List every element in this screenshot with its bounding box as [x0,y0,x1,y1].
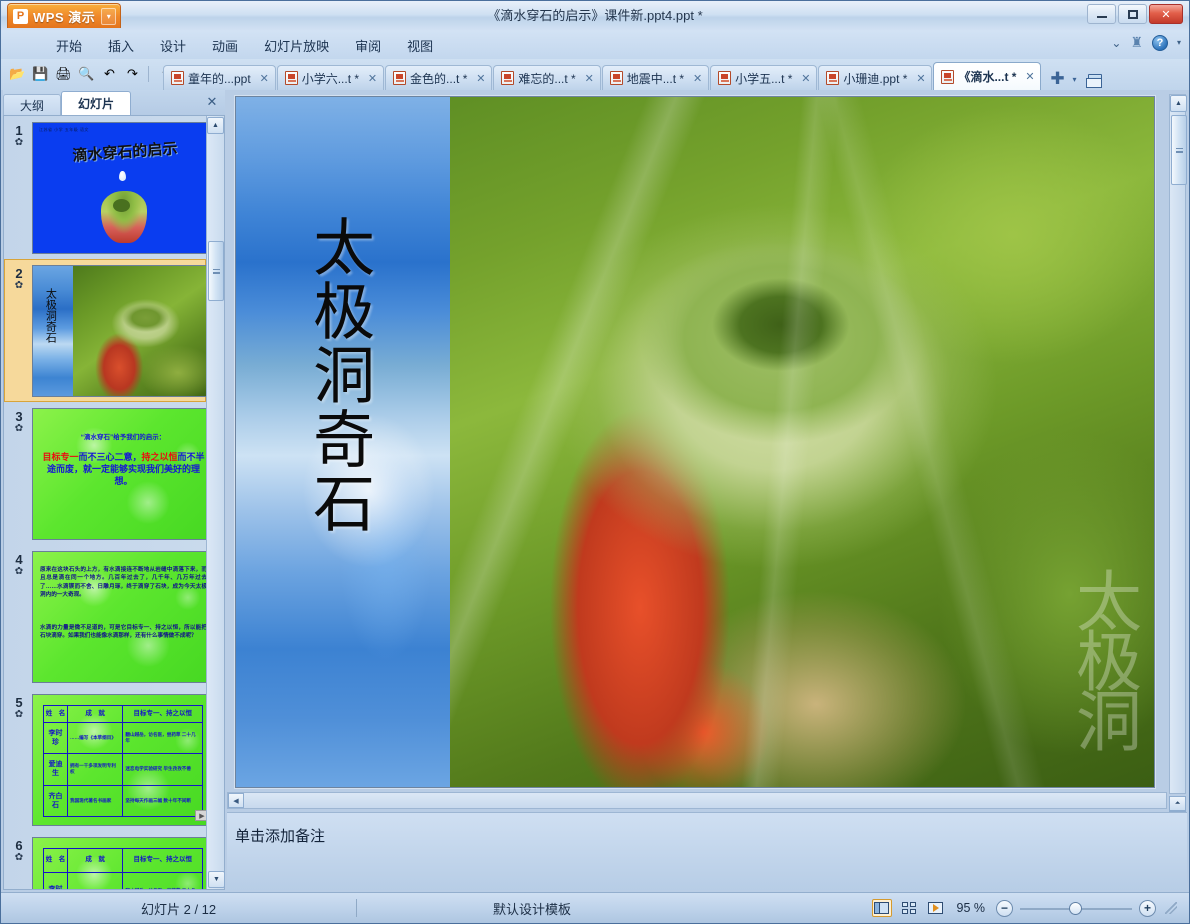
slide-thumbnail-scroll-area[interactable]: 1 ✿ 江苏省 小学 五年级 语文 滴水穿石的启示 2 [4,116,206,889]
menu-bar-right-tools: ⌄ ♜ ? ▾ [1111,34,1181,51]
slide-number: 1 [6,124,32,137]
slide-thumb-canvas: 原来在这块石头的上方，有水滴接连不断地从岩缝中滴落下来，而且总是滴在同一个地方。… [32,551,206,683]
slide-thumbnail-6[interactable]: 6 ✿ 姓 名 成 就 目标专一、持之以恒 [4,831,206,889]
doc-tab-0[interactable]: 童年的...ppt ✕ [163,65,276,90]
doc-tab-label: 小学六...t * [302,70,359,87]
menu-item-slideshow[interactable]: 幻灯片放映 [251,32,342,59]
scrollbar-grip-icon [213,269,220,274]
slide-vertical-title[interactable]: 太极洞奇石 [302,215,375,535]
stage-scrollbar-thumb[interactable] [1171,115,1187,185]
doc-tab-5[interactable]: 小学五...t * ✕ [710,65,817,90]
zoom-in-button[interactable]: + [1139,900,1156,917]
zoom-out-button[interactable]: − [996,900,1013,917]
doc-tab-close-icon[interactable]: ✕ [474,72,487,85]
slide-number: 2 [6,267,32,280]
table-row: 齐白石 我国现代著名书画家 坚持每天作画三幅 数十年不间断 [44,785,203,816]
zoom-slider[interactable] [1020,900,1132,917]
doc-tab-close-icon[interactable]: ✕ [691,72,704,85]
presentation-file-icon [285,71,298,85]
tab-window-switch-button[interactable] [1085,68,1105,90]
slide-thumb-meta: 2 ✿ [6,265,32,292]
chevron-down-icon[interactable]: ▾ [101,8,116,25]
table-header-row: 姓 名 成 就 目标专一、持之以恒 [44,849,203,873]
presentation-file-icon [393,71,406,85]
wps-logo-icon: P [13,9,28,24]
stone-image [101,191,147,243]
presentation-file-icon [941,70,954,84]
print-preview-icon[interactable]: 🔍 [76,63,97,84]
slide-thumb-meta: 3 ✿ [6,408,32,435]
open-icon[interactable]: 📂 [7,63,28,84]
document-tab-strip: 童年的...ppt ✕ 小学六...t * ✕ 金色的...t * ✕ 难忘的.… [163,59,1189,90]
slide-stone-photo[interactable]: 太极洞 [450,97,1154,787]
slideshow-icon [928,902,943,914]
slide-number: 3 [6,410,32,423]
menu-item-insert[interactable]: 插入 [95,32,147,59]
table-header-cell: 目标专一、持之以恒 [123,706,203,723]
view-sorter-button[interactable] [899,899,919,917]
table-header-row: 姓 名 成 就 目标专一、持之以恒 [44,706,203,723]
slide-thumb-meta: 6 ✿ [6,837,32,864]
slides-panel-scrollbar[interactable]: ▲ ▼ [206,116,224,889]
table-cell-persist: 坚持每天作画三幅 数十年不间断 [123,785,203,816]
doc-tab-4[interactable]: 地震中...t * ✕ [602,65,709,90]
notes-pane[interactable]: 单击添加备注 [227,812,1187,890]
table-cell-name: 李时珍 [44,872,68,889]
new-tab-button[interactable]: ✚ [1046,68,1068,90]
table-cell-persist: 迷恋电学实验研究 毕生孜孜不倦 [123,754,203,785]
table-cell-achv: ……编写《本草纲目》 [67,722,122,753]
table-header-cell: 姓 名 [44,849,68,873]
tab-outline[interactable]: 大纲 [3,94,61,115]
window-switch-icon [1088,74,1102,85]
animation-icon: ✿ [6,137,32,149]
skin-icon[interactable]: ♜ [1130,34,1143,51]
doc-tab-close-icon[interactable]: ✕ [583,72,596,85]
toolbar-row: 📂 💾 🖨 🔍 ↶ ↷ ▾ 童年的...ppt ✕ 小学六...t * ✕ 金色 [1,59,1189,90]
slide1-title: 滴水穿石的启示 [45,139,206,165]
design-template-name[interactable]: 默认设计模板 [493,899,571,918]
presentation-file-icon [171,71,184,85]
slide3-highlight-1: 目标专一 [42,452,78,462]
slide-thumb-canvas: 江苏省 小学 五年级 语文 滴水穿石的启示 [32,122,206,254]
status-bar-right: 95 % − + [872,899,1178,917]
hscroll-left-button[interactable]: ◀ [228,793,244,808]
presentation-file-icon [826,71,839,85]
notes-placeholder[interactable]: 单击添加备注 [235,825,325,846]
slide-editing-stage: 太极洞奇石 太极洞 ▲ ⏶ ⏷ ◀ [227,90,1187,890]
app-name-label: WPS 演示 [33,7,95,26]
doc-tab-label: 难忘的...t * [518,70,575,87]
slide-thumb-canvas: 姓 名 成 就 目标专一、持之以恒 李时珍 ……编写《本草纲目》 翻山越岳，访名… [32,694,206,826]
photo-watermark-text: 太极洞 [1070,567,1136,747]
help-caret-icon[interactable]: ▾ [1177,38,1181,47]
table-header-cell: 目标专一、持之以恒 [123,849,203,873]
stage-vertical-scrollbar[interactable]: ▲ [1169,94,1186,794]
slides-panel-tabs: 大纲 幻灯片 ✕ [3,90,225,115]
slide2-blue-panel: 太极洞奇石 [33,266,73,396]
tab-slides[interactable]: 幻灯片 [61,91,131,115]
slide-thumbnail-3[interactable]: 3 ✿ “滴水穿石”给予我们的启示： 目标专一而不三心二意，持之以恒而不半途而废… [4,402,206,545]
save-icon[interactable]: 💾 [30,63,51,84]
animation-icon: ✿ [6,280,32,292]
zoom-level-label[interactable]: 95 % [957,901,986,915]
slide-thumb-canvas: 太极洞奇石 [32,265,206,397]
table-cell-persist: 翻山越岳，访名医，尝药草 二十几年 [123,872,203,889]
slide-thumbnail-1[interactable]: 1 ✿ 江苏省 小学 五年级 语文 滴水穿石的启示 [4,116,206,259]
slide-thumb-meta: 4 ✿ [6,551,32,578]
slide3-body: 目标专一而不三心二意，持之以恒而不半途而废，就一定能够实现我们美好的理想。 [40,451,206,487]
stage-horizontal-scrollbar[interactable]: ◀ [227,792,1167,809]
presentation-file-icon [718,71,731,85]
table-cell-achv: 我国现代著名书画家 [67,785,122,816]
stage-horizontal-scrollbar-row: ◀ [227,792,1187,809]
water-drop-shape [119,171,126,181]
app-menu-button[interactable]: P WPS 演示 ▾ [7,3,121,28]
table-row: 李时珍 ……编写《本草纲目》 翻山越岳，访名医，尝药草 二十几年 [44,722,203,753]
table-header-cell: 姓 名 [44,706,68,723]
table-row: 李时珍 ……编写《本草纲目》 翻山越岳，访名医，尝药草 二十几年 [44,872,203,889]
photo-highlight-overlay [450,97,1154,787]
redo-icon[interactable]: ↷ [122,63,143,84]
doc-tab-label: 地震中...t * [627,70,684,87]
table-cell-achv: ……编写《本草纲目》 [67,872,122,889]
window-controls: ✕ [1087,4,1183,24]
doc-tab-1[interactable]: 小学六...t * ✕ [277,65,384,90]
title-bar: 《滴水穿石的启示》课件新.ppt4.ppt * P WPS 演示 ▾ ✕ [1,1,1189,31]
slide6-table: 姓 名 成 就 目标专一、持之以恒 李时珍 ……编写《本草纲目》 翻山越岳，访名… [43,848,203,889]
slide2-vertical-title: 太极洞奇石 [44,288,57,343]
animation-icon: ✿ [6,852,32,864]
status-bar: 幻灯片 2 / 12 默认设计模板 95 % − + [1,892,1189,923]
current-slide-canvas[interactable]: 太极洞奇石 太极洞 [235,96,1155,788]
animation-icon: ✿ [6,709,32,721]
table-cell-name: 李时珍 [44,722,68,753]
slide1-header-note: 江苏省 小学 五年级 语文 [39,127,89,133]
print-icon[interactable]: 🖨 [53,63,74,84]
table-header-cell: 成 就 [67,849,122,873]
table-cell-name: 齐白石 [44,785,68,816]
menu-item-start[interactable]: 开始 [43,32,95,59]
doc-tab-close-icon[interactable]: ✕ [1023,70,1036,83]
slide-thumbnail-5[interactable]: 5 ✿ 姓 名 成 就 目标专一、持之以恒 [4,688,206,831]
chevron-down-icon[interactable]: ⌄ [1111,36,1121,50]
presentation-file-icon [501,71,514,85]
help-icon[interactable]: ? [1152,35,1168,51]
doc-tab-close-icon[interactable]: ✕ [258,72,271,85]
slide3-highlight-2: 持之以恒 [142,452,178,462]
view-normal-button[interactable] [872,899,892,917]
slides-panel: 大纲 幻灯片 ✕ 1 ✿ 江苏省 小学 五年级 语文 滴水穿石的启示 [3,90,225,890]
zoom-slider-knob[interactable] [1069,902,1082,915]
quick-access-toolbar: 📂 💾 🖨 🔍 ↶ ↷ ▾ [7,63,175,84]
table-header-cell: 成 就 [67,706,122,723]
doc-tab-6[interactable]: 小珊迪.ppt * ✕ [818,65,932,90]
slide3-mid-1: 而不三心二意， [78,452,141,462]
close-panel-icon[interactable]: ✕ [204,94,220,110]
scrollbar-grip-icon [1176,148,1183,153]
doc-tab-label: 金色的...t * [410,70,467,87]
doc-tab-3[interactable]: 难忘的...t * ✕ [493,65,600,90]
doc-tab-close-icon[interactable]: ✕ [366,72,379,85]
presentation-file-icon [610,71,623,85]
wps-presentation-window: 《滴水穿石的启示》课件新.ppt4.ppt * P WPS 演示 ▾ ✕ 开始 … [0,0,1190,924]
slide-counter: 幻灯片 2 / 12 [141,899,216,918]
menu-bar: 开始 插入 设计 动画 幻灯片放映 审阅 视图 ⌄ ♜ ? ▾ [1,31,1189,59]
slide4-paragraph-1: 原来在这块石头的上方，有水滴接连不断地从岩缝中滴落下来，而且总是滴在同一个地方。… [40,566,206,600]
slide3-lead-line: “滴水穿石”给予我们的启示： [33,431,206,441]
work-area: 大纲 幻灯片 ✕ 1 ✿ 江苏省 小学 五年级 语文 滴水穿石的启示 [1,90,1189,892]
scroll-up-button[interactable]: ▲ [207,117,224,134]
slide-thumb-meta: 5 ✿ [6,694,32,721]
normal-view-icon [874,902,889,914]
undo-icon[interactable]: ↶ [99,63,120,84]
slide-thumbnail-2[interactable]: 2 ✿ 太极洞奇石 [4,259,206,402]
slide-thumbnail-list: 1 ✿ 江苏省 小学 五年级 语文 滴水穿石的启示 2 [3,115,225,890]
toolbar-divider [148,66,149,82]
resize-grip-icon[interactable] [1165,902,1177,914]
close-button[interactable]: ✕ [1149,4,1183,24]
doc-tab-2[interactable]: 金色的...t * ✕ [385,65,492,90]
table-cell-persist: 翻山越岳，访名医，尝药草 二十几年 [123,722,203,753]
slide-sorter-icon [902,902,916,914]
slide-blue-panel: 太极洞奇石 [236,97,450,787]
slide-thumb-canvas: “滴水穿石”给予我们的启示： 目标专一而不三心二意，持之以恒而不半途而废，就一定… [32,408,206,540]
slide-number: 5 [6,696,32,709]
doc-tab-label: 童年的...ppt [188,70,251,87]
play-icon: ▶ [195,810,206,821]
doc-tab-close-icon[interactable]: ✕ [799,72,812,85]
animation-icon: ✿ [6,566,32,578]
doc-tab-close-icon[interactable]: ✕ [914,72,927,85]
menu-item-review[interactable]: 审阅 [342,32,394,59]
new-tab-caret-icon[interactable]: ▾ [1068,68,1080,90]
slide5-table: 姓 名 成 就 目标专一、持之以恒 李时珍 ……编写《本草纲目》 翻山越岳，访名… [43,705,203,817]
table-row: 爱迪生 拥有一千多项发明专利权 迷恋电学实验研究 毕生孜孜不倦 [44,754,203,785]
stage-scroll-up-button[interactable]: ▲ [1170,95,1187,112]
slide-thumb-canvas: 姓 名 成 就 目标专一、持之以恒 李时珍 ……编写《本草纲目》 翻山越岳，访名… [32,837,206,889]
document-title: 《滴水穿石的启示》课件新.ppt4.ppt * [1,1,1189,31]
scrollbar-thumb[interactable] [208,241,224,301]
table-cell-achv: 拥有一千多项发明专利权 [67,754,122,785]
doc-tab-label: 小学五...t * [735,70,792,87]
slide4-paragraph-2: 水滴的力量是微不足道的，可是它目标专一、持之以恒，所以能把石块滴穿。如果我们也能… [40,624,206,641]
minimize-button[interactable] [1087,4,1116,24]
menu-item-view[interactable]: 视图 [394,32,446,59]
animation-icon: ✿ [6,423,32,435]
view-slideshow-button[interactable] [926,899,946,917]
scroll-down-button[interactable]: ▼ [208,871,225,888]
doc-tab-label: 《滴水...t * [958,68,1016,85]
menu-item-design[interactable]: 设计 [147,32,199,59]
menu-item-animation[interactable]: 动画 [199,32,251,59]
table-cell-name: 爱迪生 [44,754,68,785]
slide2-stone-photo [73,266,206,396]
slide-number: 6 [6,839,32,852]
slide-number: 4 [6,553,32,566]
status-divider [356,899,357,917]
slide-thumbnail-4[interactable]: 4 ✿ 原来在这块石头的上方，有水滴接连不断地从岩缝中滴落下来，而且总是滴在同一… [4,545,206,688]
doc-tab-7-active[interactable]: 《滴水...t * ✕ [933,62,1041,90]
doc-tab-label: 小珊迪.ppt * [843,70,907,87]
maximize-button[interactable] [1118,4,1147,24]
slide-thumb-meta: 1 ✿ [6,122,32,149]
